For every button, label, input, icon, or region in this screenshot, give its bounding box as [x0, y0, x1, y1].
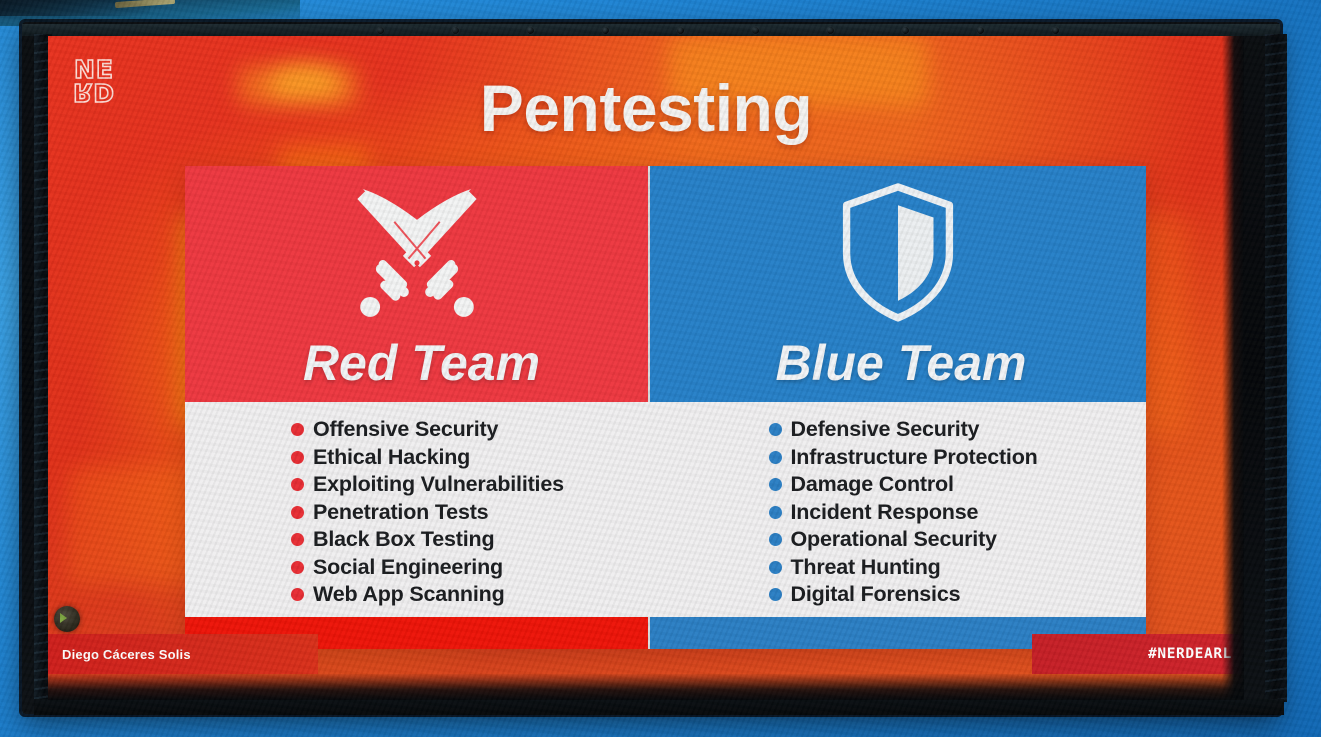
bullet-dot-icon: [291, 561, 304, 574]
list-item: Black Box Testing: [291, 526, 669, 554]
screen-right-shadow: [1222, 36, 1244, 700]
speaker-dot-icon: [527, 27, 534, 34]
speaker-dot-icon: [377, 27, 384, 34]
blue-team-list: Defensive Security Infrastructure Protec…: [669, 402, 1147, 617]
speaker-dot-icon: [752, 27, 759, 34]
list-item-label: Defensive Security: [791, 417, 980, 442]
list-item: Incident Response: [769, 499, 1147, 527]
list-item: Exploiting Vulnerabilities: [291, 471, 669, 499]
event-hashtag-bar: #NERDEARL: [1032, 634, 1244, 674]
speaker-tick: [564, 28, 566, 35]
list-item: Web App Scanning: [291, 581, 669, 609]
page-title: Pentesting: [48, 70, 1244, 146]
list-item-label: Black Box Testing: [313, 527, 494, 552]
list-item-label: Penetration Tests: [313, 500, 488, 525]
bullet-dot-icon: [291, 588, 304, 601]
blue-team-header: Blue Team: [650, 166, 1146, 402]
list-item-label: Social Engineering: [313, 555, 503, 580]
list-item-label: Offensive Security: [313, 417, 498, 442]
pentesting-comparison-card: Red Team Blue Team Offensive Security Et…: [185, 166, 1146, 649]
bullet-dot-icon: [291, 423, 304, 436]
camera-lens-marker: [54, 606, 80, 632]
event-hashtag: #NERDEARL: [1148, 646, 1232, 662]
list-item: Threat Hunting: [769, 554, 1147, 582]
speaker-dot-icon: [1052, 27, 1059, 34]
list-item: Social Engineering: [291, 554, 669, 582]
speaker-dot-icon: [902, 27, 909, 34]
shield-icon: [650, 178, 1146, 328]
list-item: Defensive Security: [769, 416, 1147, 444]
list-item-label: Digital Forensics: [791, 582, 961, 607]
list-item-label: Exploiting Vulnerabilities: [313, 472, 564, 497]
speaker-dot-icon: [827, 27, 834, 34]
presentation-slide: NE RD Pentesting: [48, 36, 1244, 700]
tv-speaker-strip: [22, 24, 1280, 36]
red-team-list: Offensive Security Ethical Hacking Explo…: [185, 402, 669, 617]
bullet-dot-icon: [769, 506, 782, 519]
list-item: Infrastructure Protection: [769, 444, 1147, 472]
speaker-tick: [639, 28, 641, 35]
list-item: Ethical Hacking: [291, 444, 669, 472]
speaker-tick: [789, 28, 791, 35]
speaker-tick: [864, 28, 866, 35]
speaker-dot-icon: [452, 27, 459, 34]
list-item-label: Damage Control: [791, 472, 954, 497]
tv-bezel-bottom: [34, 699, 1284, 715]
speaker-name: Diego Cáceres Solis: [62, 647, 191, 662]
speaker-tick: [1089, 28, 1091, 35]
speaker-tick: [414, 28, 416, 35]
bullet-dot-icon: [769, 561, 782, 574]
speaker-lower-third: Diego Cáceres Solis: [48, 634, 318, 674]
bullet-dot-icon: [769, 533, 782, 546]
blue-team-heading: Blue Team: [650, 334, 1146, 392]
tv-bezel-right: [1265, 34, 1287, 702]
speaker-tick: [714, 28, 716, 35]
list-item-label: Threat Hunting: [791, 555, 941, 580]
list-item: Digital Forensics: [769, 581, 1147, 609]
speaker-tick: [489, 28, 491, 35]
list-item-label: Web App Scanning: [313, 582, 505, 607]
crossed-swords-icon: [185, 178, 648, 328]
bullet-dot-icon: [769, 423, 782, 436]
red-team-heading: Red Team: [185, 334, 648, 392]
speaker-tick: [939, 28, 941, 35]
list-item: Offensive Security: [291, 416, 669, 444]
list-item-label: Incident Response: [791, 500, 979, 525]
bullet-dot-icon: [291, 451, 304, 464]
bullet-dot-icon: [769, 588, 782, 601]
card-body: Offensive Security Ethical Hacking Explo…: [185, 402, 1146, 617]
red-team-header: Red Team: [185, 166, 648, 402]
list-item: Penetration Tests: [291, 499, 669, 527]
speaker-dot-icon: [977, 27, 984, 34]
bullet-dot-icon: [291, 533, 304, 546]
list-item: Operational Security: [769, 526, 1147, 554]
bullet-dot-icon: [769, 451, 782, 464]
list-item: Damage Control: [769, 471, 1147, 499]
list-item-label: Operational Security: [791, 527, 997, 552]
room-background: NE RD Pentesting: [0, 0, 1321, 737]
bullet-dot-icon: [769, 478, 782, 491]
speaker-dot-icon: [677, 27, 684, 34]
bullet-dot-icon: [291, 478, 304, 491]
list-item-label: Ethical Hacking: [313, 445, 470, 470]
bullet-dot-icon: [291, 506, 304, 519]
list-item-label: Infrastructure Protection: [791, 445, 1038, 470]
speaker-dot-icon: [602, 27, 609, 34]
screen-bottom-shadow: [48, 674, 1244, 700]
speaker-tick: [1014, 28, 1016, 35]
